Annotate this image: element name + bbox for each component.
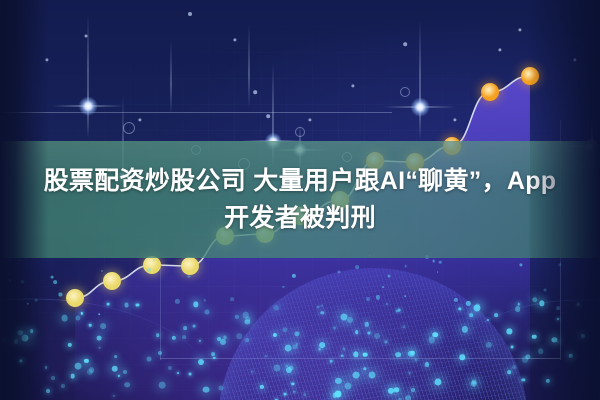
news-cover-image: 股票配资炒股公司 大量用户跟AI“聊黄”，App 开发者被判刑 (0, 0, 600, 400)
right-edge-vignette (0, 0, 600, 400)
